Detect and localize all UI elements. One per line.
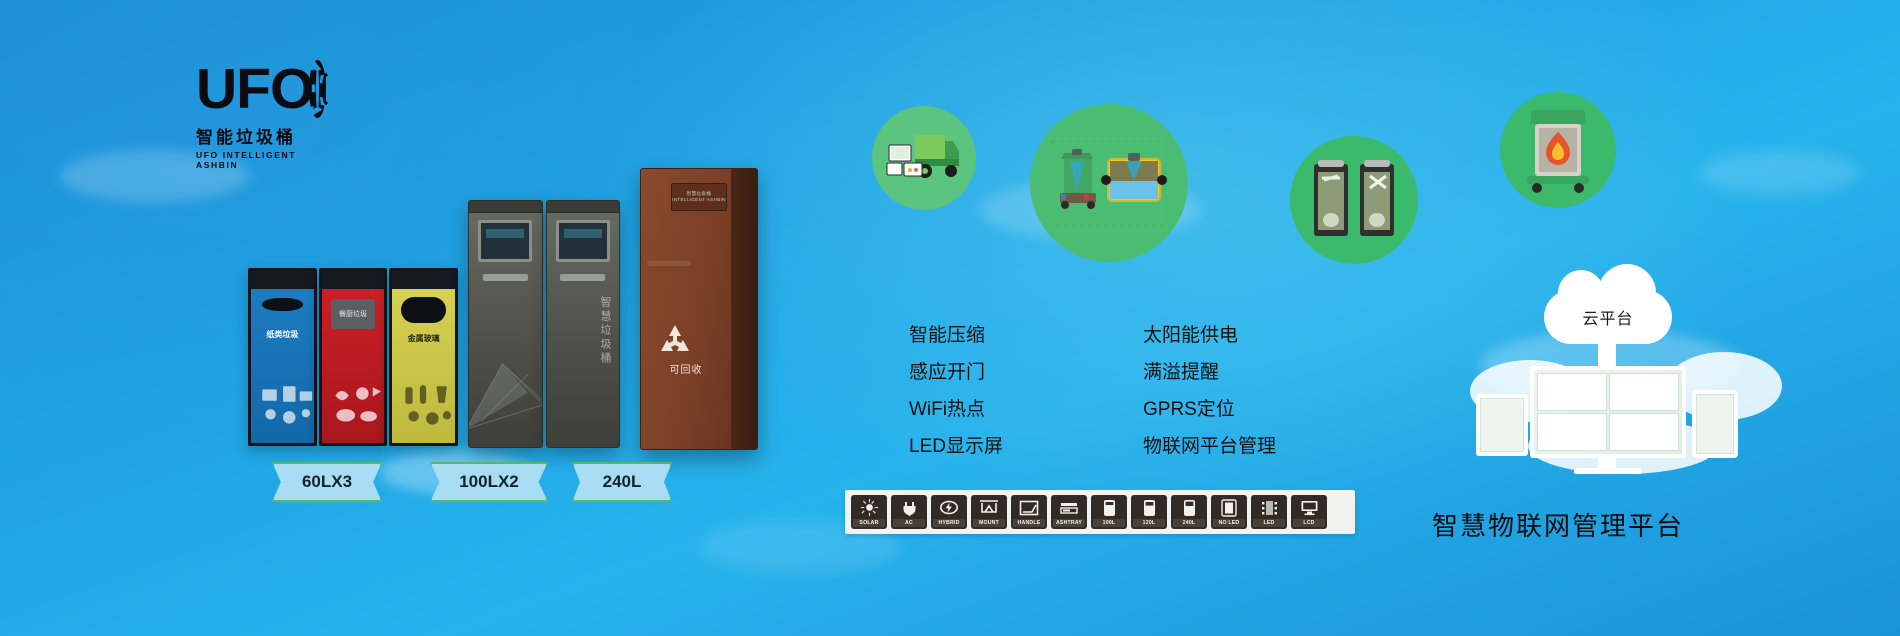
feature-label: LED显示屏 (909, 431, 1003, 458)
logo-letters: UFO (196, 61, 313, 118)
dashboard-panel (1537, 413, 1607, 451)
feature-circle-collection-truck (872, 106, 976, 210)
option-label: HANDLE (1013, 519, 1045, 527)
tablet-right-device (1692, 390, 1738, 458)
hybrid-power-icon (931, 498, 967, 517)
bin-panel-label: 纸类垃圾 (251, 329, 314, 340)
feature-circle-dual-bin-sensor (1290, 136, 1418, 264)
bin-grey-unit (468, 200, 543, 448)
bin-grey-double: 智慧垃圾桶 (468, 200, 620, 448)
no-led-icon (1211, 498, 1247, 517)
capacity-banner-60lx3: 60LX3 (272, 462, 382, 502)
sun-icon (851, 498, 887, 517)
cloud-badge: 云平台 (1544, 290, 1672, 344)
bin-brown-240l: 智慧垃圾桶 INTELLIGENT ASHBIN 可回收 (640, 168, 758, 450)
feature-item: 物联网平台管理 (1114, 431, 1310, 458)
feature-item: 智能压缩 (880, 320, 1076, 347)
option-ac[interactable]: AC (891, 495, 927, 529)
monitor-base (1574, 468, 1642, 474)
recycle-icon (655, 321, 695, 359)
monitor-icon (880, 400, 898, 415)
option-label: MOUNT (973, 519, 1005, 527)
option-ashtray[interactable]: ASHTRAY (1051, 495, 1087, 529)
tablet-screen (1696, 394, 1734, 454)
option-120l[interactable]: 120L (1131, 495, 1167, 529)
feature-item: 满溢提醒 (1114, 357, 1310, 384)
feature-label: 太阳能供电 (1143, 320, 1238, 347)
option-label: NO LED (1213, 519, 1245, 527)
option-hybrid[interactable]: HYBRID (931, 495, 967, 529)
bin-tri-color: 纸类垃圾 餐厨垃圾 (248, 268, 458, 446)
brand-logo: UFO 智能垃圾桶 UFO INTELLIGENT ASHBIN (196, 58, 326, 170)
bin-slot-icon: 餐厨垃圾 (331, 299, 375, 329)
dashboard-panel (1609, 413, 1679, 451)
option-label: AC (893, 519, 925, 527)
tablet-left-device (1476, 394, 1528, 456)
option-no-led[interactable]: NO LED (1211, 495, 1247, 529)
monitor-screen (1534, 370, 1682, 454)
monitor-icon (1114, 400, 1132, 415)
feature-item: LED显示屏 (880, 431, 1076, 458)
recycle-label: 可回收 (655, 361, 717, 376)
bin-display-panel: 智慧垃圾桶 INTELLIGENT ASHBIN (671, 183, 727, 211)
feature-item: WiFi热点 (880, 394, 1076, 421)
monitor-icon (880, 437, 898, 452)
feature-label: 物联网平台管理 (1143, 431, 1276, 458)
monitor-icon (1114, 363, 1132, 378)
tablet-screen (1480, 398, 1524, 452)
bin-240l-icon (1171, 498, 1207, 517)
polygon-overlay-graphic (468, 317, 543, 447)
option-label: LED (1253, 519, 1285, 527)
option-label: SOLAR (853, 519, 885, 527)
option-label: 120L (1133, 519, 1165, 527)
feature-label: 智能压缩 (909, 320, 985, 347)
option-label: 100L (1093, 519, 1125, 527)
wall-mount-icon (971, 498, 1007, 517)
collection-truck-icon (885, 127, 963, 189)
capacity-banner-100lx2: 100LX2 (430, 462, 548, 502)
bin-grey-unit: 智慧垃圾桶 (546, 200, 621, 448)
bin-graphic-icon (397, 381, 458, 433)
option-led[interactable]: LED (1251, 495, 1287, 529)
feature-circle-compaction-transfer (1030, 104, 1188, 262)
bin-panel-label: 餐厨垃圾 (339, 309, 367, 319)
option-label: ASHTRAY (1053, 519, 1085, 527)
feature-item: 感应开门 (880, 357, 1076, 384)
option-lcd[interactable]: LCD (1291, 495, 1327, 529)
banner-stage: UFO 智能垃圾桶 UFO INTELLIGENT ASHBIN 纸类垃圾 (0, 0, 1900, 636)
monitor-neck (1598, 458, 1616, 468)
dashboard-panel (1537, 373, 1607, 411)
bin-panel-metal-glass: 金属玻璃 (389, 268, 458, 446)
bin-slot-icon (401, 297, 446, 323)
cloud-label: 云平台 (1582, 305, 1633, 329)
dual-bin-sensor-icon (1306, 158, 1402, 242)
dashboard-panel (1609, 373, 1679, 411)
decorative-cloud (1700, 150, 1860, 196)
platform-title: 智慧物联网管理平台 (1432, 506, 1684, 543)
feature-label: 感应开门 (909, 357, 985, 384)
option-icon-strip: SOLAR AC HYBRID MOUNT HANDLE (845, 490, 1355, 534)
bin-vertical-text: 智慧垃圾桶 (597, 296, 613, 366)
feature-item: 太阳能供电 (1114, 320, 1310, 347)
feature-label: 满溢提醒 (1143, 357, 1219, 384)
option-label: 240L (1173, 519, 1205, 527)
bin-graphic-icon (256, 381, 317, 433)
feature-label: WiFi热点 (909, 394, 985, 421)
bin-handle-icon (483, 274, 528, 281)
cloud-platform-illustration: 云平台 (1470, 290, 1770, 480)
feature-item: GPRS定位 (1114, 394, 1310, 421)
plug-icon (891, 498, 927, 517)
logo-mark: UFO (196, 58, 326, 120)
capacity-banner-240l: 240L (572, 462, 672, 502)
recycle-badge: 可回收 (655, 321, 717, 376)
bin-display-screen (478, 220, 532, 262)
led-icon (1251, 498, 1287, 517)
logo-name-cn: 智能垃圾桶 (196, 123, 326, 148)
desktop-monitor-device (1530, 366, 1686, 458)
monitor-icon (1114, 437, 1132, 452)
compaction-transfer-icon (1046, 135, 1172, 231)
feature-label: GPRS定位 (1143, 394, 1235, 421)
cloud-connector (1598, 344, 1616, 366)
bin-120l-icon (1131, 498, 1167, 517)
feature-circle-fire-alarm-bin (1500, 92, 1616, 208)
monitor-icon (880, 326, 898, 341)
option-label: LCD (1293, 519, 1325, 527)
option-100l[interactable]: 100L (1091, 495, 1127, 529)
option-solar[interactable]: SOLAR (851, 495, 887, 529)
handle-icon (1011, 498, 1047, 517)
ashtray-icon (1051, 498, 1087, 517)
option-mount[interactable]: MOUNT (971, 495, 1007, 529)
bin-panel-label: 金属玻璃 (392, 333, 455, 344)
bin-panel-kitchen: 餐厨垃圾 (319, 268, 388, 446)
bin-panel-paper: 纸类垃圾 (248, 268, 317, 446)
bin-display-text: 智慧垃圾桶 INTELLIGENT ASHBIN (672, 191, 726, 204)
option-label: HYBRID (933, 519, 965, 527)
bin-slot-icon (262, 298, 303, 311)
feature-list: 智能压缩 太阳能供电 感应开门 满溢提醒 WiFi热点 GPRS定位 LED显示… (880, 320, 1310, 458)
ufo-ring-icon (309, 60, 326, 118)
option-handle[interactable]: HANDLE (1011, 495, 1047, 529)
monitor-icon (880, 363, 898, 378)
bin-display-screen (556, 220, 610, 262)
monitor-icon (1114, 326, 1132, 341)
fire-alarm-bin-icon (1515, 106, 1601, 194)
option-240l[interactable]: 240L (1171, 495, 1207, 529)
bin-handle-icon (560, 274, 605, 281)
logo-name-en: UFO INTELLIGENT ASHBIN (196, 150, 326, 170)
lcd-icon (1291, 498, 1327, 517)
bin-graphic-icon (327, 381, 388, 433)
bin-100l-icon (1091, 498, 1127, 517)
